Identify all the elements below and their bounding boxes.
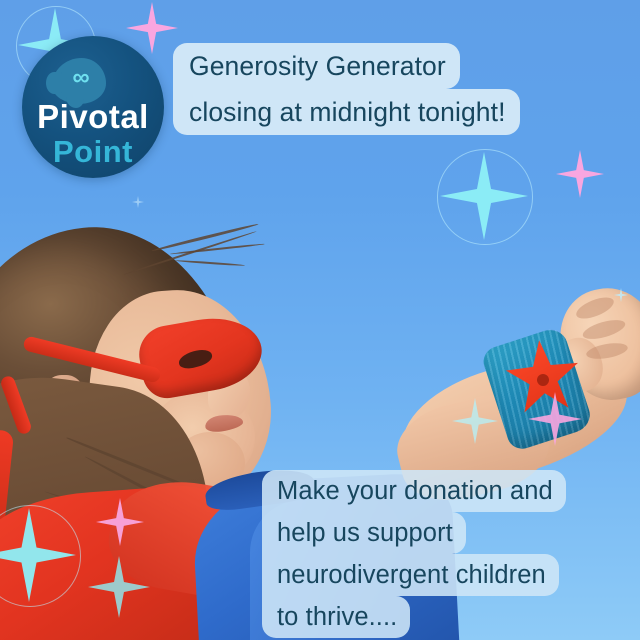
sparkle-tiny-right (614, 288, 628, 302)
body-line-3: neurodivergent children (262, 554, 559, 596)
sparkle-pink-midright (528, 392, 582, 446)
headline-line-1: Generosity Generator (173, 43, 460, 89)
sparkle-diamond-icon (614, 288, 628, 302)
sparkle-diamond-icon (0, 508, 76, 602)
sparkle-cyan-bottomleft (0, 508, 76, 602)
sparkle-pink-bottomleft (96, 498, 144, 546)
logo-name-top: Pivotal (22, 98, 164, 136)
logo-name-bottom: Point (22, 134, 164, 170)
sparkle-tiny-logo (132, 196, 144, 208)
sparkle-diamond-icon (556, 150, 604, 198)
pivotal-point-logo[interactable]: ∞ Pivotal Point (22, 36, 164, 178)
body-line-2: help us support (262, 512, 466, 554)
sparkle-diamond-icon (440, 152, 528, 240)
sparkle-diamond-icon (452, 398, 498, 444)
sparkle-pink-topmid (126, 2, 178, 54)
sparkle-diamond-icon (88, 556, 150, 618)
body-line-4: to thrive.... (262, 596, 410, 638)
star-center (537, 374, 549, 386)
headline-text-block: Generosity Generator closing at midnight… (173, 43, 520, 135)
social-post-canvas: ∞ Pivotal Point Generosity Generator clo… (0, 0, 640, 640)
sparkle-cyan-lowermid (88, 556, 150, 618)
sparkle-cyan-wrist (452, 398, 498, 444)
body-line-1: Make your donation and (262, 470, 566, 512)
body-text-block: Make your donation and help us support n… (262, 470, 566, 638)
sparkle-diamond-icon (528, 392, 582, 446)
hair-strand (175, 260, 245, 267)
headline-line-2: closing at midnight tonight! (173, 89, 520, 135)
infinity-icon: ∞ (66, 70, 96, 86)
sparkle-diamond-icon (126, 2, 178, 54)
sparkle-diamond-icon (132, 196, 144, 208)
sparkle-cyan-center (440, 152, 528, 240)
sparkle-diamond-icon (96, 498, 144, 546)
sparkle-pink-right (556, 150, 604, 198)
